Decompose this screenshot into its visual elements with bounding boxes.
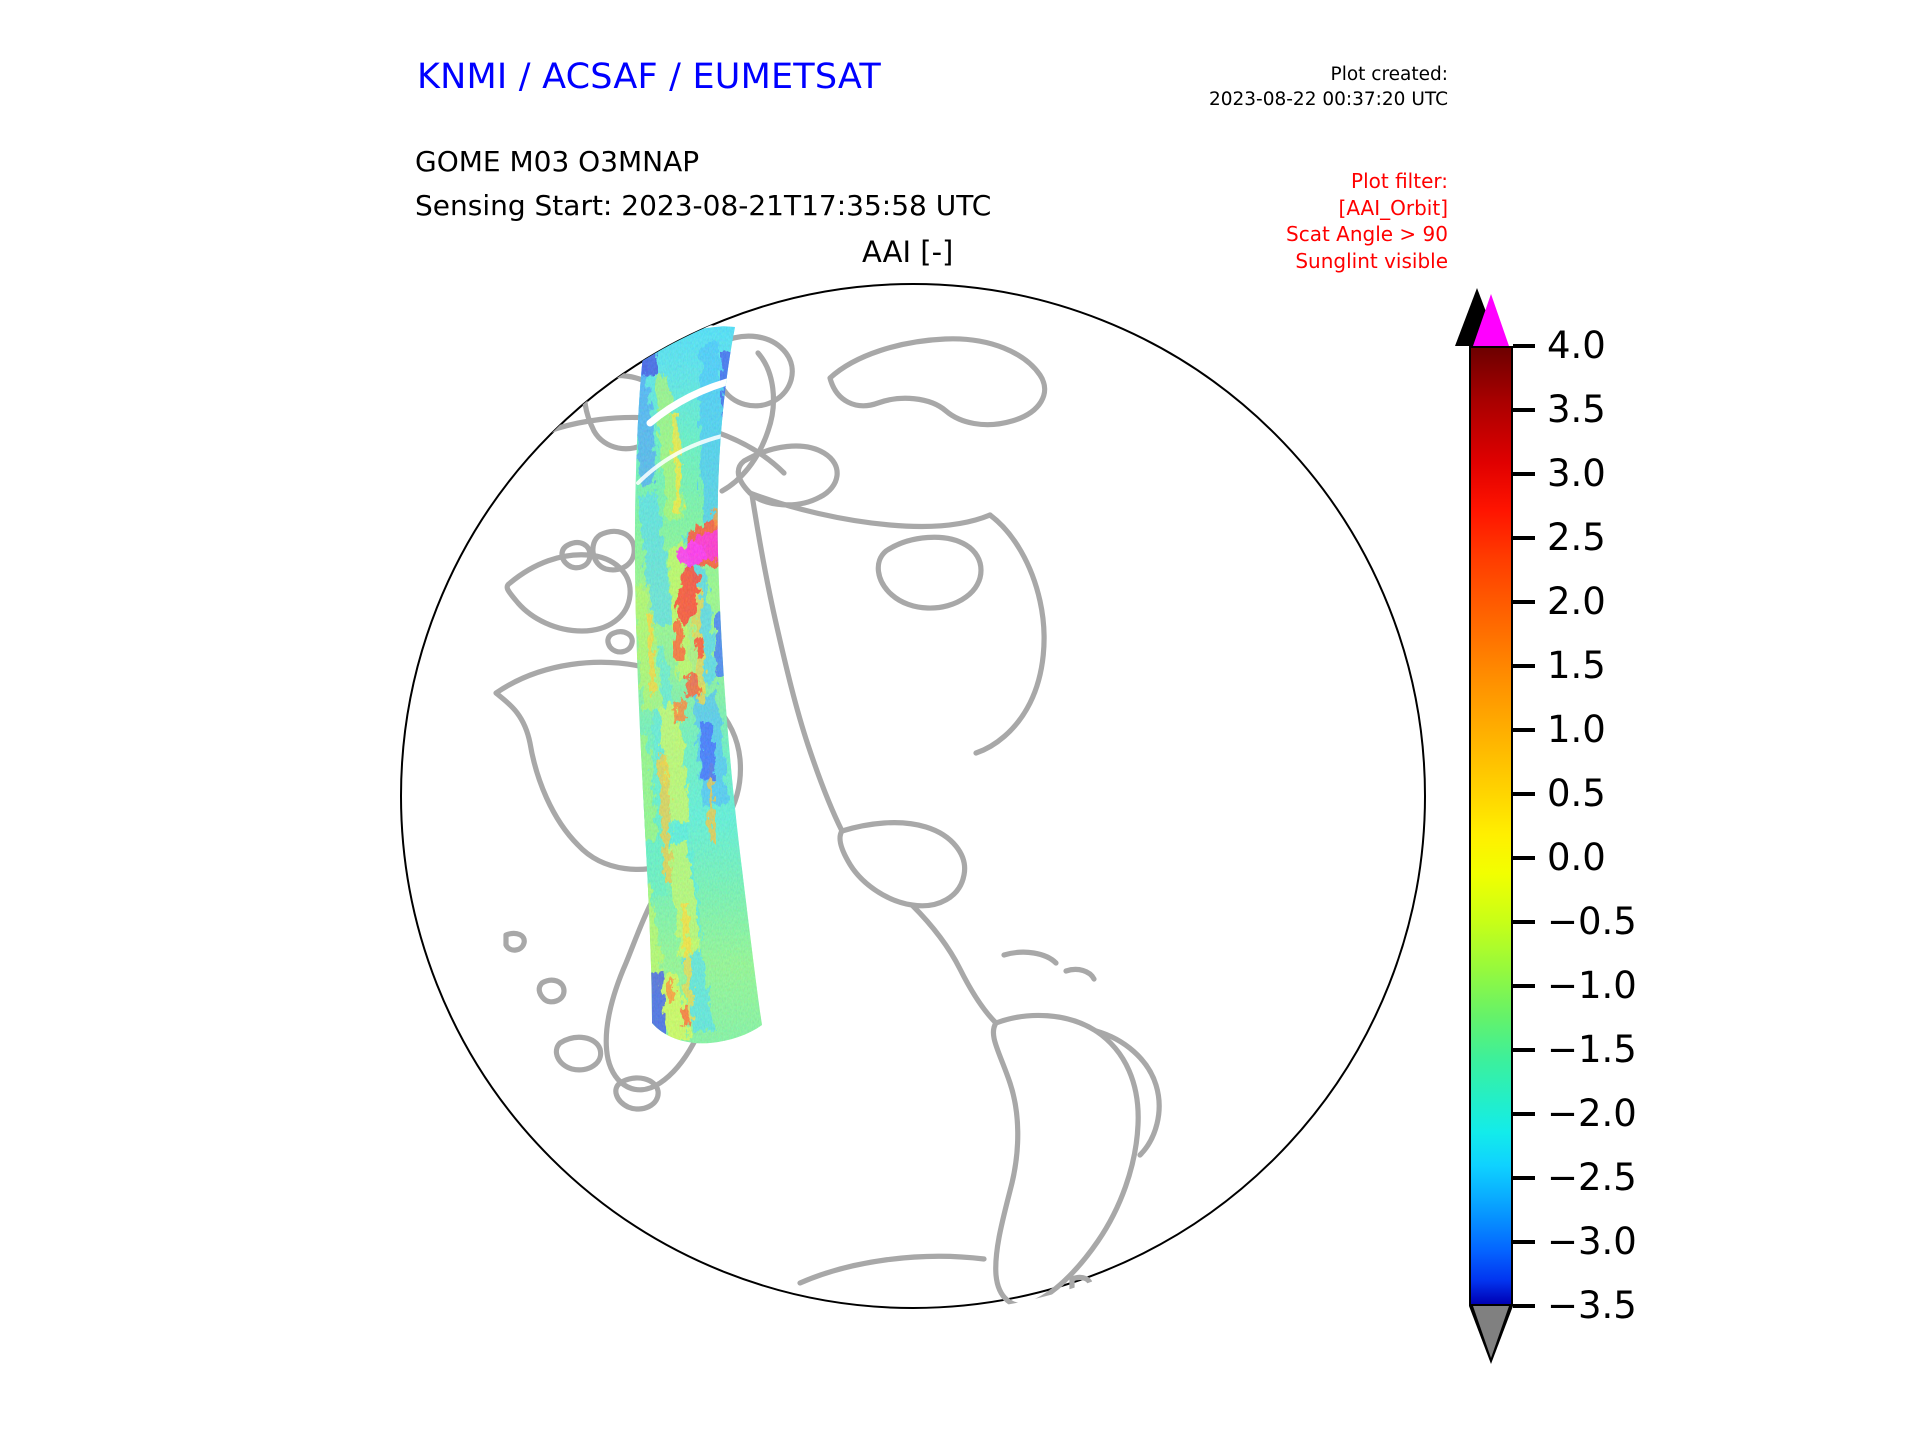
colorbar-tick-label: −3.0	[1547, 1223, 1637, 1260]
colorbar-gradient	[1469, 346, 1513, 1306]
colorbar-tick	[1513, 600, 1535, 604]
plot-created-timestamp: 2023-08-22 00:37:20 UTC	[1209, 87, 1448, 112]
colorbar-tick-label: −3.5	[1547, 1287, 1637, 1324]
colorbar-tick	[1513, 728, 1535, 732]
colorbar-tick	[1513, 536, 1535, 540]
colorbar-tick	[1513, 984, 1535, 988]
plot-filter-block: Plot filter: [AAI_Orbit] Scat Angle > 90…	[1286, 168, 1448, 274]
colorbar-tick	[1513, 664, 1535, 668]
colorbar-tick	[1513, 792, 1535, 796]
organisation-title: KNMI / ACSAF / EUMETSAT	[417, 57, 881, 97]
aai-swath-layer	[400, 283, 1430, 1313]
colorbar-tick	[1513, 1304, 1535, 1308]
colorbar-tick-label: 1.0	[1547, 711, 1606, 748]
sensing-start-label: Sensing Start: 2023-08-21T17:35:58 UTC	[415, 189, 991, 222]
map-globe	[400, 283, 1430, 1313]
colorbar-under-arrow	[1473, 1306, 1509, 1358]
page-title: AAI [-]	[862, 235, 953, 269]
colorbar-tick	[1513, 1112, 1535, 1116]
colorbar-tick-label: −0.5	[1547, 903, 1637, 940]
colorbar-tick	[1513, 1048, 1535, 1052]
colorbar-tick-label: −1.0	[1547, 967, 1637, 1004]
colorbar-tick	[1513, 344, 1535, 348]
colorbar-tick-label: 0.0	[1547, 839, 1606, 876]
colorbar-tick-label: 2.5	[1547, 519, 1606, 556]
colorbar: 4.03.53.02.52.01.51.00.50.0−0.5−1.0−1.5−…	[1455, 288, 1895, 1308]
colorbar-tick-label: 3.0	[1547, 455, 1606, 492]
colorbar-tick	[1513, 920, 1535, 924]
plot-created-block: Plot created: 2023-08-22 00:37:20 UTC	[1209, 62, 1448, 112]
colorbar-tick-label: 0.5	[1547, 775, 1606, 812]
swath-body	[630, 313, 780, 1055]
colorbar-tick	[1513, 856, 1535, 860]
globe-clip	[400, 283, 1430, 1313]
colorbar-tick	[1513, 472, 1535, 476]
colorbar-tick-label: 1.5	[1547, 647, 1606, 684]
colorbar-tick-label: −1.5	[1547, 1031, 1637, 1068]
plot-filter-line-2: Sunglint visible	[1286, 248, 1448, 275]
dataset-name: GOME M03 O3MNAP	[415, 145, 699, 178]
colorbar-tick-label: −2.5	[1547, 1159, 1637, 1196]
plot-filter-title: Plot filter:	[1286, 168, 1448, 195]
colorbar-tick	[1513, 1240, 1535, 1244]
colorbar-tick	[1513, 1176, 1535, 1180]
colorbar-tick-label: 4.0	[1547, 327, 1606, 364]
colorbar-tick	[1513, 408, 1535, 412]
plot-filter-line-0: [AAI_Orbit]	[1286, 195, 1448, 222]
colorbar-tick-label: −2.0	[1547, 1095, 1637, 1132]
colorbar-over-arrow	[1473, 294, 1509, 346]
colorbar-tick-label: 3.5	[1547, 391, 1606, 428]
plot-filter-line-1: Scat Angle > 90	[1286, 221, 1448, 248]
plot-created-label: Plot created:	[1209, 62, 1448, 87]
colorbar-tick-label: 2.0	[1547, 583, 1606, 620]
